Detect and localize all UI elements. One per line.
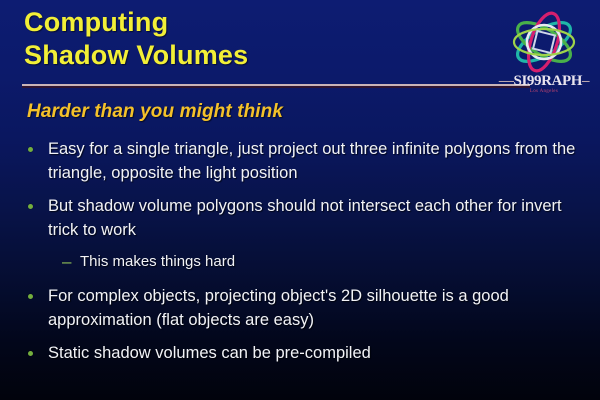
dash-marker-icon: –: [62, 251, 78, 273]
sub-list-item: – This makes things hard: [20, 251, 580, 273]
title-line-1: Computing: [24, 6, 484, 39]
bullet-text: Static shadow volumes can be pre-compile…: [48, 341, 580, 365]
wordmark-text: SI99RAPH: [514, 73, 582, 89]
bullet-marker-icon: [28, 284, 42, 299]
bullet-text: Easy for a single triangle, just project…: [48, 137, 580, 185]
presentation-slide: Computing Shadow Volumes —SI99RAPH– Los …: [0, 0, 600, 400]
list-item: But shadow volume polygons should not in…: [20, 194, 580, 242]
list-item: Static shadow volumes can be pre-compile…: [20, 341, 580, 365]
bullet-list: Easy for a single triangle, just project…: [20, 137, 580, 374]
siggraph-city-label: Los Angeles: [494, 89, 594, 94]
siggraph-logo: —SI99RAPH– Los Angeles: [494, 8, 594, 100]
slide-subtitle: Harder than you might think: [27, 101, 283, 123]
bullet-marker-icon: [28, 137, 42, 152]
list-item: For complex objects, projecting object's…: [20, 284, 580, 332]
bullet-text: For complex objects, projecting object's…: [48, 284, 580, 332]
bullet-marker-icon: [28, 341, 42, 356]
title-divider-rule: [22, 84, 530, 86]
siggraph-rings-icon: [502, 8, 586, 76]
slide-title: Computing Shadow Volumes: [24, 6, 484, 72]
title-line-2: Shadow Volumes: [24, 39, 484, 72]
siggraph-wordmark: —SI99RAPH–: [494, 74, 594, 89]
list-item: Easy for a single triangle, just project…: [20, 137, 580, 185]
wordmark-dash-left: —: [499, 73, 514, 89]
bullet-text: But shadow volume polygons should not in…: [48, 194, 580, 242]
sub-bullet-text: This makes things hard: [80, 251, 580, 273]
bullet-marker-icon: [28, 194, 42, 209]
wordmark-dash-right: –: [582, 73, 589, 89]
